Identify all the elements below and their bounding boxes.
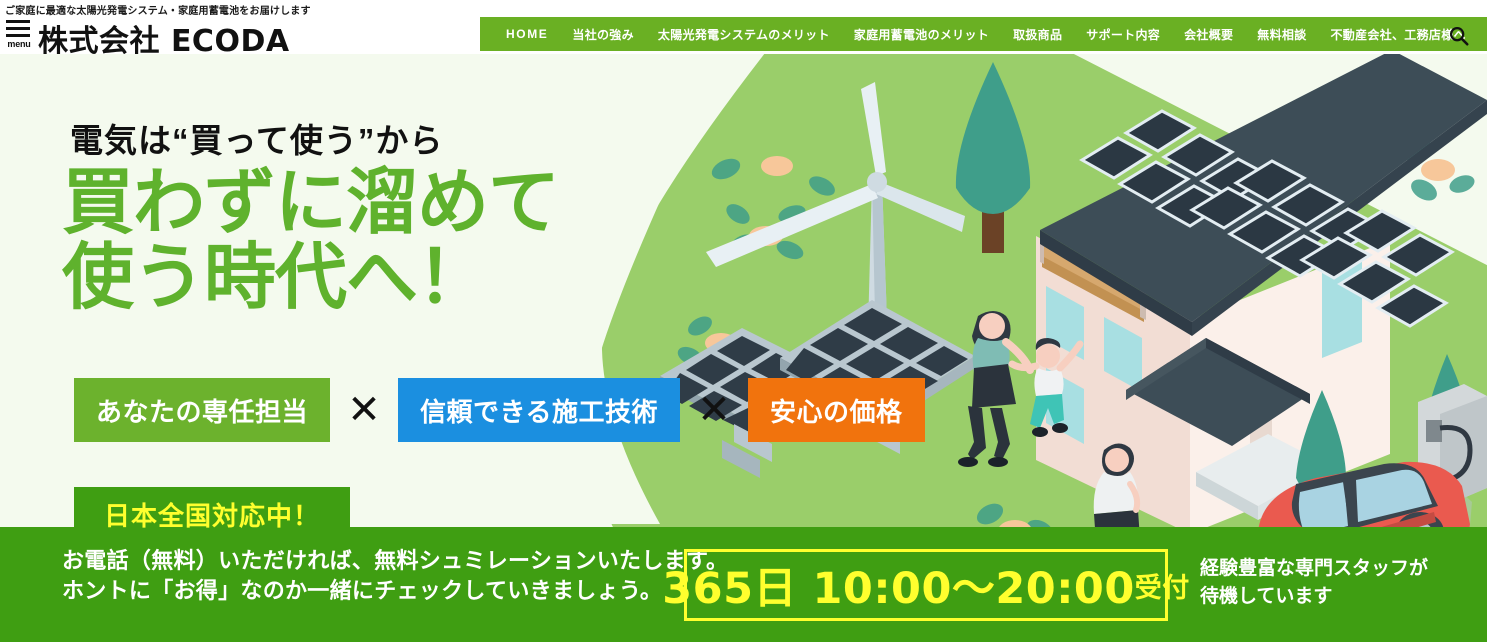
staff-note-line1: 経験豊富な専門スタッフが [1200,555,1428,583]
nav-item-home[interactable]: HOME [494,27,560,41]
nav-item-battery-merit[interactable]: 家庭用蓄電池のメリット [842,26,1001,43]
badge-safe-price[interactable]: 安心の価格 [748,378,925,442]
nav-item-strengths[interactable]: 当社の強み [560,26,646,43]
hamburger-bar [6,27,30,30]
nav-item-company[interactable]: 会社概要 [1172,26,1245,43]
hero-headline-line2: 使う時代へ！ [62,242,488,314]
cta-message-line2: ホントに「お得」なのか一緒にチェックしていきましょう。 [62,576,728,606]
menu-label: menu [4,39,34,49]
badge-reliable-work[interactable]: 信頼できる施工技術 [398,378,680,442]
hero-headline-line1: 買わずに溜めて [62,167,559,239]
site-header: menu 株式会社 ECODA HOME 当社の強み 太陽光発電システムのメリッ… [0,12,1487,54]
business-hours-unit: 受付 [1135,566,1190,605]
badge-separator-2: ✕ [680,387,748,433]
badge-dedicated-staff[interactable]: あなたの専任担当 [74,378,330,442]
cta-message: お電話（無料）いただければ、無料シュミレーションいたします。 ホントに「お得」な… [62,546,728,607]
business-hours-value: 365日 10:00〜20:00 [662,554,1134,616]
nav-item-free-consult[interactable]: 無料相談 [1245,26,1318,43]
nav-item-products[interactable]: 取扱商品 [1001,26,1074,43]
nav-item-support[interactable]: サポート内容 [1074,26,1172,43]
hamburger-menu-icon[interactable]: menu [4,18,32,50]
hamburger-bar [6,34,30,37]
nationwide-badge: 日本全国対応中！ [74,487,350,542]
main-navigation: HOME 当社の強み 太陽光発電システムのメリット 家庭用蓄電池のメリット 取扱… [480,17,1487,51]
nav-item-solar-merit[interactable]: 太陽光発電システムのメリット [646,26,842,43]
hero-feature-badges: あなたの専任担当 ✕ 信頼できる施工技術 ✕ 安心の価格 [74,378,925,442]
cta-bar: お電話（無料）いただければ、無料シュミレーションいたします。 ホントに「お得」な… [0,527,1487,642]
hero-kicker: 電気は“買って使う”から [70,114,443,162]
search-icon[interactable] [1448,25,1470,47]
cta-message-line1: お電話（無料）いただければ、無料シュミレーションいたします。 [62,546,728,576]
staff-note: 経験豊富な専門スタッフが 待機しています [1200,555,1428,610]
business-hours-box: 365日 10:00〜20:00受付 [684,549,1168,621]
staff-note-line2: 待機しています [1200,583,1428,611]
badge-separator-1: ✕ [330,387,398,433]
hamburger-bar [6,20,30,23]
